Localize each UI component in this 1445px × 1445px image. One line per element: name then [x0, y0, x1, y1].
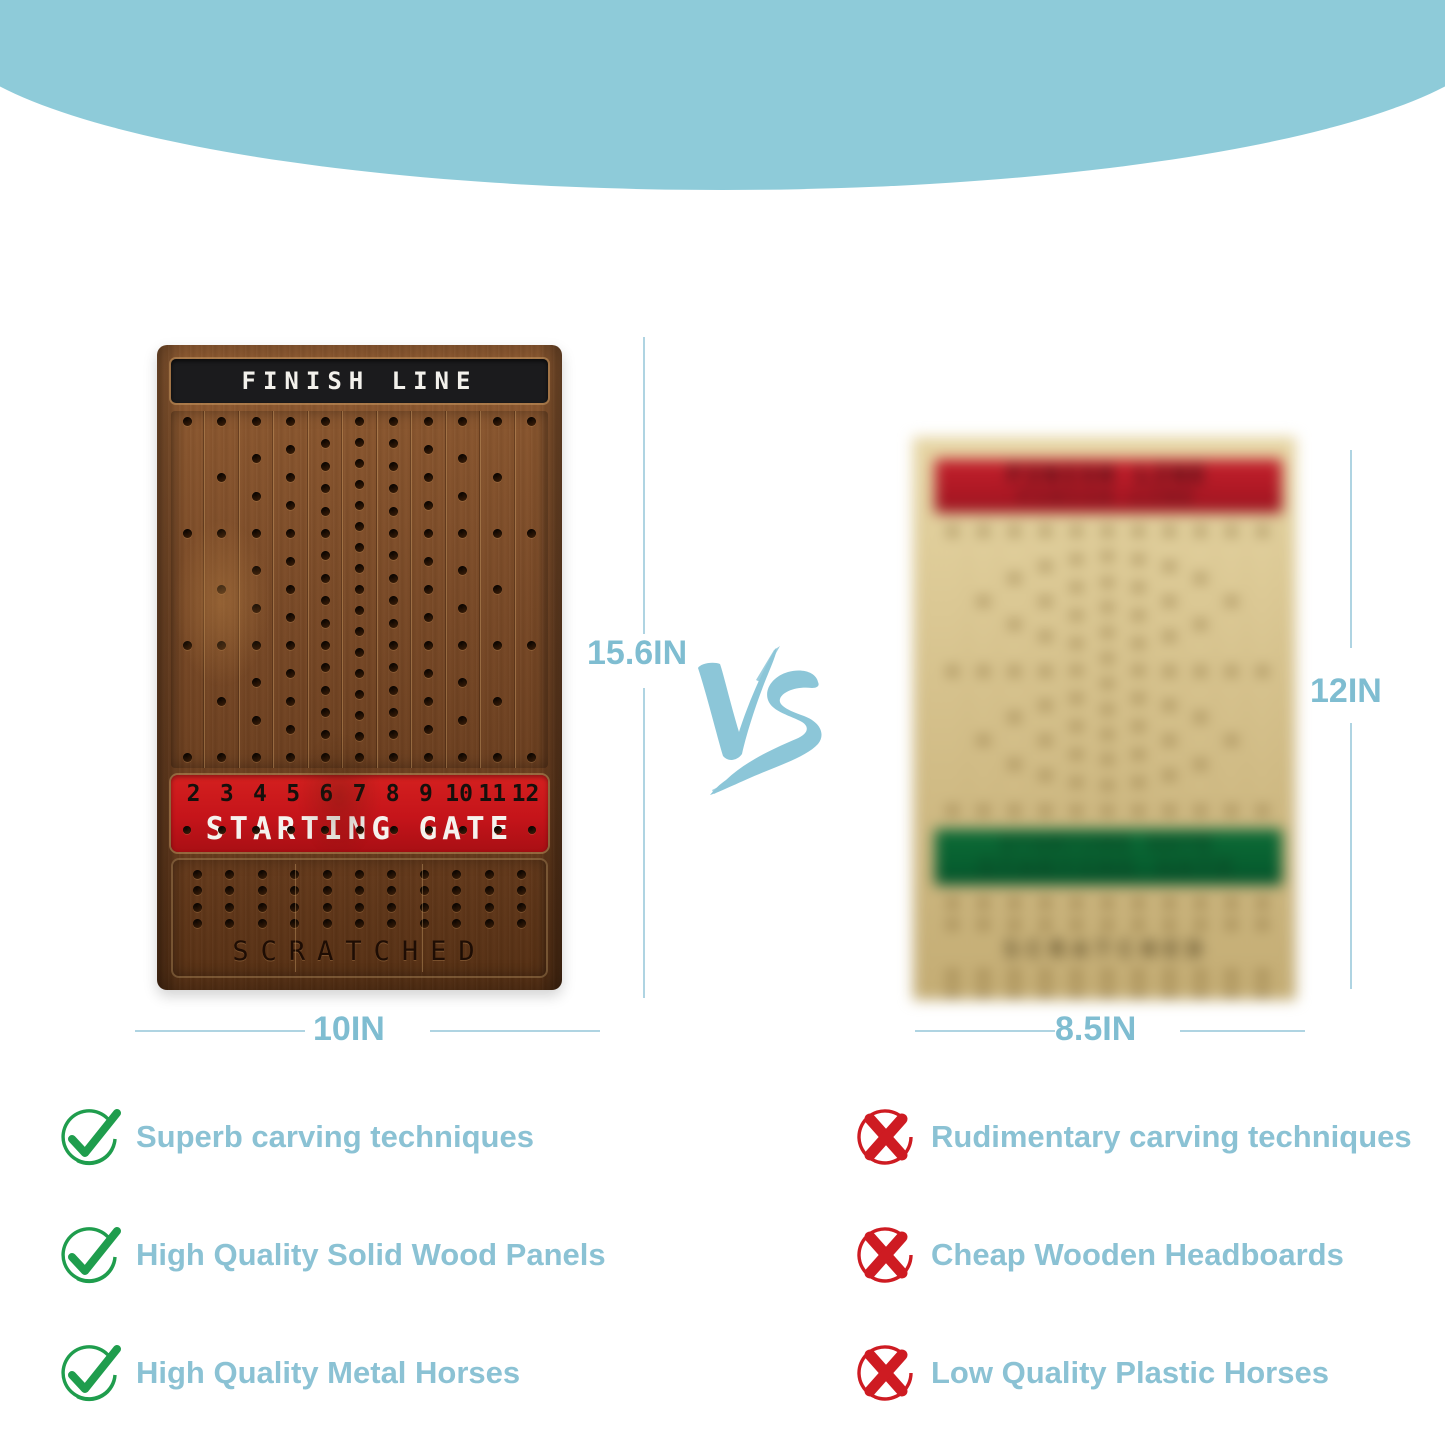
peg-hole [1072, 899, 1081, 908]
peg-hole [355, 585, 364, 594]
peg-hole [1165, 971, 1174, 980]
peg-hole [1103, 527, 1112, 536]
peg-hole [355, 648, 364, 657]
peg-hole [217, 585, 226, 594]
peg-hole [390, 826, 398, 834]
peg-hole [458, 566, 467, 575]
gate-number: 8 [376, 781, 409, 807]
peg-hole [1010, 713, 1019, 722]
peg-hole [389, 507, 398, 516]
peg-hole [258, 919, 267, 928]
peg-hole [1134, 971, 1143, 980]
peg-column [171, 411, 204, 768]
peg-hole [979, 920, 988, 929]
peg-hole [1165, 527, 1174, 536]
peg-hole [217, 753, 226, 762]
peg-hole [1072, 750, 1081, 759]
peg-hole [252, 678, 261, 687]
peg-hole [355, 480, 364, 489]
peg-hole [424, 613, 433, 622]
peg-hole [1072, 722, 1081, 731]
peg-hole [527, 529, 536, 538]
gate-number: 10 [443, 781, 476, 807]
peg-hole [1103, 578, 1112, 587]
peg-hole [527, 641, 536, 650]
peg-hole [485, 886, 494, 895]
peg-hole [1010, 899, 1019, 908]
peg-hole [1041, 771, 1050, 780]
peg-hole [321, 641, 330, 650]
peg-column [480, 411, 514, 768]
peg-hole [258, 903, 267, 912]
peg-hole [1041, 920, 1050, 929]
competitor-height-line-lower [1350, 723, 1352, 989]
peg-hole [1134, 920, 1143, 929]
good-starting-gate-plate: 23456789101112 STARTING GATE [171, 775, 548, 852]
check-circle-icon [60, 1224, 122, 1286]
peg-hole [1041, 597, 1050, 606]
peg-hole [1010, 527, 1019, 536]
infographic-page: Our Advantages FINISH LINE 2345678910111… [0, 0, 1445, 1445]
peg-hole [323, 886, 332, 895]
header-banner [0, 0, 1445, 190]
peg-hole [389, 574, 398, 583]
peg-hole [493, 585, 502, 594]
peg-hole [389, 462, 398, 471]
peg-hole [1103, 920, 1112, 929]
good-width-line-right [430, 1030, 600, 1032]
peg-column [308, 411, 342, 768]
peg-hole [517, 919, 526, 928]
peg-column [515, 411, 548, 768]
peg-column [1247, 523, 1278, 819]
peg-hole [321, 484, 330, 493]
peg-hole [458, 641, 467, 650]
peg-hole [948, 806, 957, 815]
peg-hole [1227, 806, 1236, 815]
peg-hole [183, 529, 192, 538]
peg-hole [1041, 899, 1050, 908]
competitor-finish-line-plate: FINISH LINE FINISH LINE [935, 459, 1282, 513]
good-finish-line-plate: FINISH LINE [171, 359, 548, 403]
peg-hole [1134, 694, 1143, 703]
peg-hole [1165, 701, 1174, 710]
peg-hole [387, 870, 396, 879]
lower-divider [295, 864, 296, 972]
gate-number: 11 [476, 781, 509, 807]
peg-hole [1103, 654, 1112, 663]
peg-hole [258, 870, 267, 879]
peg-hole [1227, 920, 1236, 929]
peg-hole [321, 826, 329, 834]
peg-hole [193, 919, 202, 928]
peg-hole [286, 417, 295, 426]
peg-hole [979, 597, 988, 606]
lower-divider [422, 864, 423, 972]
peg-hole [424, 557, 433, 566]
peg-hole [424, 417, 433, 426]
competitor-starting-gate-sublabel: STARTING GATE [935, 832, 1282, 854]
competitor-finish-line-label: FINISH LINE [935, 463, 1282, 488]
peg-hole [1041, 667, 1050, 676]
peg-hole [452, 919, 461, 928]
x-circle-icon [855, 1224, 917, 1286]
peg-hole [1103, 899, 1112, 908]
peg-hole [1227, 971, 1236, 980]
peg-column [968, 523, 999, 819]
good-gate-number-row: 23456789101112 [177, 779, 542, 809]
feature-item: Superb carving techniques [60, 1078, 700, 1196]
peg-hole [1196, 574, 1205, 583]
peg-hole [1258, 971, 1267, 980]
peg-column [446, 411, 480, 768]
peg-hole [321, 574, 330, 583]
competitor-starting-gate-plate: STARTING GATE STARTING GATE [935, 829, 1282, 885]
vs-graphic [690, 640, 830, 800]
peg-hole [252, 566, 261, 575]
peg-hole [1072, 971, 1081, 980]
good-height-line-lower [643, 688, 645, 998]
peg-hole [252, 529, 261, 538]
peg-hole [387, 903, 396, 912]
feature-label: Superb carving techniques [136, 1119, 534, 1155]
competitor-lower-pegboard: SCRATCHED [937, 893, 1278, 986]
peg-hole [979, 806, 988, 815]
peg-column [239, 411, 273, 768]
peg-hole [389, 753, 398, 762]
peg-hole [1072, 806, 1081, 815]
peg-hole [948, 971, 957, 980]
peg-hole [218, 826, 226, 834]
peg-hole [225, 903, 234, 912]
peg-hole [217, 697, 226, 706]
peg-column [1092, 523, 1123, 819]
peg-hole [356, 826, 364, 834]
peg-hole [424, 753, 433, 762]
peg-hole [1103, 628, 1112, 637]
peg-hole [217, 473, 226, 482]
peg-hole [355, 669, 364, 678]
peg-hole [458, 604, 467, 613]
peg-hole [458, 678, 467, 687]
peg-hole [1103, 988, 1112, 997]
peg-hole [1010, 760, 1019, 769]
peg-hole [424, 473, 433, 482]
good-scratched-peg-grid [181, 866, 538, 932]
peg-hole [1258, 988, 1267, 997]
feature-item: Low Quality Plastic Horses [855, 1314, 1445, 1432]
peg-column [1123, 523, 1154, 819]
peg-hole [1010, 806, 1019, 815]
peg-hole [286, 529, 295, 538]
peg-hole [452, 870, 461, 879]
peg-hole [1134, 583, 1143, 592]
peg-hole [1258, 806, 1267, 815]
peg-hole [948, 899, 957, 908]
peg-hole [389, 730, 398, 739]
peg-hole [217, 641, 226, 650]
peg-hole [286, 753, 295, 762]
peg-hole [1072, 639, 1081, 648]
peg-column [1154, 523, 1185, 819]
peg-hole [1196, 527, 1205, 536]
peg-hole [1227, 899, 1236, 908]
peg-hole [389, 417, 398, 426]
good-scratched-label-wrap: SCRATCHED [181, 932, 538, 970]
peg-hole [1134, 527, 1143, 536]
peg-hole [321, 439, 330, 448]
feature-label: Rudimentary carving techniques [931, 1119, 1412, 1155]
peg-hole [193, 886, 202, 895]
x-circle-icon [855, 1106, 917, 1168]
peg-hole [323, 903, 332, 912]
page-title: Our Advantages [130, 232, 1315, 318]
peg-hole [321, 619, 330, 628]
peg-hole [424, 445, 433, 454]
peg-hole [1072, 666, 1081, 675]
peg-hole [517, 886, 526, 895]
peg-hole [1041, 806, 1050, 815]
competitor-feature-list: Rudimentary carving techniquesCheap Wood… [855, 1078, 1445, 1432]
peg-hole [217, 529, 226, 538]
peg-hole [1010, 574, 1019, 583]
competitor-starting-gate-label: STARTING GATE [935, 855, 1282, 881]
peg-hole [1010, 620, 1019, 629]
peg-hole [452, 886, 461, 895]
peg-hole [321, 462, 330, 471]
competitor-width-line-right [1180, 1030, 1305, 1032]
competitor-upper-pegboard [937, 523, 1278, 819]
peg-hole [1072, 611, 1081, 620]
gate-number: 5 [277, 781, 310, 807]
peg-hole [1196, 806, 1205, 815]
feature-item: Cheap Wooden Headboards [855, 1196, 1445, 1314]
peg-hole [1041, 988, 1050, 997]
peg-hole [252, 716, 261, 725]
gate-number: 6 [310, 781, 343, 807]
competitor-scratched-label: SCRATCHED [937, 937, 1278, 963]
peg-hole [485, 919, 494, 928]
peg-hole [424, 529, 433, 538]
peg-hole [1165, 632, 1174, 641]
peg-hole [252, 604, 261, 613]
peg-hole [424, 725, 433, 734]
gate-number: 9 [409, 781, 442, 807]
peg-hole [1041, 632, 1050, 641]
peg-hole [389, 686, 398, 695]
peg-hole [948, 667, 957, 676]
peg-hole [1258, 667, 1267, 676]
peg-hole [225, 919, 234, 928]
good-scratched-label: SCRATCHED [232, 936, 486, 967]
peg-hole [979, 667, 988, 676]
peg-hole [458, 529, 467, 538]
peg-hole [1227, 736, 1236, 745]
peg-hole [1072, 694, 1081, 703]
peg-hole [1041, 971, 1050, 980]
peg-hole [286, 613, 295, 622]
peg-hole [321, 529, 330, 538]
competitor-height-line-upper [1350, 450, 1352, 648]
peg-hole [1103, 781, 1112, 790]
check-circle-icon [60, 1342, 122, 1404]
competitor-finish-line-sublabel: FINISH LINE [935, 487, 1282, 507]
peg-hole [321, 753, 330, 762]
peg-hole [321, 417, 330, 426]
peg-hole [1196, 620, 1205, 629]
peg-hole [321, 686, 330, 695]
peg-hole [1010, 667, 1019, 676]
peg-hole [252, 454, 261, 463]
peg-hole [424, 585, 433, 594]
peg-hole [1165, 988, 1174, 997]
peg-hole [1103, 806, 1112, 815]
peg-hole [1165, 562, 1174, 571]
good-height-line-upper [643, 337, 645, 634]
peg-column [999, 523, 1030, 819]
peg-hole [1165, 667, 1174, 676]
peg-hole [458, 492, 467, 501]
peg-hole [252, 641, 261, 650]
peg-hole [527, 417, 536, 426]
peg-hole [355, 438, 364, 447]
good-upper-pegboard [171, 411, 548, 768]
peg-hole [517, 903, 526, 912]
peg-hole [1072, 778, 1081, 787]
gate-number: 12 [509, 781, 542, 807]
peg-hole [1134, 806, 1143, 815]
peg-hole [225, 886, 234, 895]
good-product-board: FINISH LINE 23456789101112 STARTING GATE… [157, 345, 562, 990]
peg-hole [321, 730, 330, 739]
peg-hole [1134, 666, 1143, 675]
peg-hole [528, 826, 536, 834]
peg-hole [355, 711, 364, 720]
peg-hole [493, 697, 502, 706]
feature-item: High Quality Metal Horses [60, 1314, 700, 1432]
gate-number: 3 [210, 781, 243, 807]
peg-hole [252, 826, 260, 834]
peg-hole [1072, 555, 1081, 564]
peg-hole [494, 826, 502, 834]
good-feature-list: Superb carving techniquesHigh Quality So… [60, 1078, 700, 1432]
peg-hole [1258, 899, 1267, 908]
competitor-width-line-left [915, 1030, 1055, 1032]
peg-hole [1165, 771, 1174, 780]
peg-hole [355, 459, 364, 468]
peg-hole [1010, 988, 1019, 997]
peg-hole [1134, 750, 1143, 759]
peg-hole [355, 501, 364, 510]
feature-item: Rudimentary carving techniques [855, 1078, 1445, 1196]
peg-hole [217, 417, 226, 426]
peg-hole [321, 596, 330, 605]
peg-hole [286, 501, 295, 510]
peg-hole [979, 971, 988, 980]
peg-hole [1041, 527, 1050, 536]
peg-hole [458, 454, 467, 463]
peg-hole [355, 690, 364, 699]
peg-hole [286, 725, 295, 734]
peg-column [377, 411, 411, 768]
competitor-width-label: 8.5IN [1055, 1010, 1136, 1049]
peg-hole [1227, 527, 1236, 536]
peg-hole [458, 716, 467, 725]
peg-hole [355, 732, 364, 741]
peg-hole [948, 527, 957, 536]
peg-hole [225, 870, 234, 879]
gate-number: 7 [343, 781, 376, 807]
peg-hole [1072, 527, 1081, 536]
peg-hole [258, 886, 267, 895]
peg-column [1061, 523, 1092, 819]
peg-hole [979, 736, 988, 745]
peg-hole [1134, 555, 1143, 564]
peg-hole [355, 886, 364, 895]
peg-hole [1165, 736, 1174, 745]
peg-hole [252, 417, 261, 426]
feature-label: Low Quality Plastic Horses [931, 1355, 1329, 1391]
peg-hole [425, 826, 433, 834]
peg-hole [355, 870, 364, 879]
peg-hole [1196, 988, 1205, 997]
peg-hole [424, 641, 433, 650]
peg-hole [1103, 730, 1112, 739]
peg-hole [355, 627, 364, 636]
peg-hole [1072, 920, 1081, 929]
x-circle-icon [855, 1342, 917, 1404]
good-finish-line-label: FINISH LINE [242, 367, 478, 395]
peg-hole [1165, 806, 1174, 815]
peg-hole [979, 527, 988, 536]
peg-hole [387, 919, 396, 928]
peg-hole [252, 753, 261, 762]
peg-hole [389, 596, 398, 605]
gate-number: 4 [243, 781, 276, 807]
peg-hole [355, 564, 364, 573]
peg-hole [979, 899, 988, 908]
peg-hole [355, 606, 364, 615]
peg-hole [193, 870, 202, 879]
peg-hole [355, 903, 364, 912]
peg-hole [389, 619, 398, 628]
peg-hole [1227, 667, 1236, 676]
peg-hole [1227, 597, 1236, 606]
peg-hole [193, 903, 202, 912]
feature-label: Cheap Wooden Headboards [931, 1237, 1344, 1273]
peg-hole [1134, 722, 1143, 731]
peg-hole [1227, 988, 1236, 997]
peg-hole [1134, 611, 1143, 620]
peg-hole [1258, 920, 1267, 929]
peg-hole [1103, 705, 1112, 714]
peg-hole [286, 445, 295, 454]
peg-hole [1103, 755, 1112, 764]
peg-hole [1103, 603, 1112, 612]
peg-hole [355, 522, 364, 531]
peg-column [1030, 523, 1061, 819]
peg-column [204, 411, 238, 768]
peg-hole [493, 641, 502, 650]
peg-hole [424, 669, 433, 678]
peg-column [1216, 523, 1247, 819]
peg-hole [389, 551, 398, 560]
peg-hole [1041, 701, 1050, 710]
peg-hole [321, 663, 330, 672]
peg-column [342, 411, 376, 768]
check-circle-icon [60, 1106, 122, 1168]
peg-hole [948, 920, 957, 929]
